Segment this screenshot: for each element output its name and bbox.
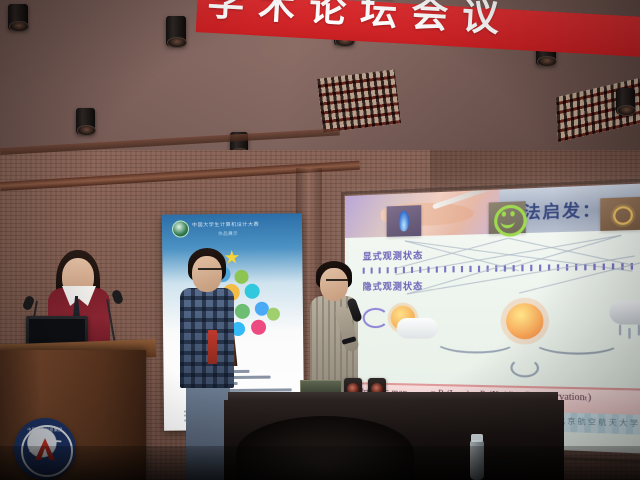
downlight-3 [76,108,95,134]
sun-icon [600,197,640,231]
poster-star-icon [224,250,239,265]
foreground-shadow [0,446,640,480]
self-loop-1 [363,308,389,328]
plaid-man-glasses-icon [198,268,222,276]
downlight-1 [8,4,28,30]
plaid-man-body [180,288,234,388]
downlight-2 [166,16,186,46]
poster-subtitle: 作品展示 [218,230,296,239]
label-explicit-state: 显式观测状态 [363,248,424,263]
self-loop-2 [510,358,539,378]
conference-photo: 学术论坛会议 中国大学生计算机设计大赛 作品展示 [0,0,640,480]
poster-seal-icon [172,220,189,237]
institute-logo-text: 中国航天科技集团 [23,427,67,437]
ceiling-grille-light-1 [317,69,401,132]
slide-header-photo [345,190,499,238]
downlight-8 [616,88,635,114]
smiley-icon [489,201,526,234]
red-notebook [208,330,217,364]
poster-title: 中国大学生计算机设计大赛 [192,220,297,230]
speaker-glasses-icon [326,279,348,287]
flame-icon [387,205,422,237]
